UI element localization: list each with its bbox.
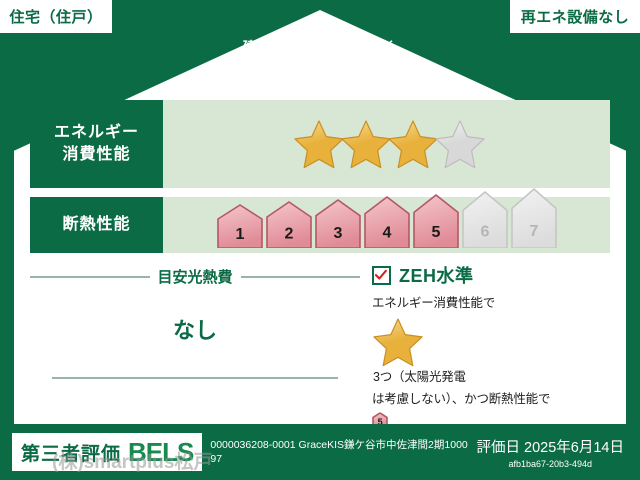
insulation-performance-row: 断熱性能 1234567 <box>30 197 610 253</box>
evaluation-date-block: 評価日 2025年6月14日 afb1ba67-20b3-494d <box>477 436 628 469</box>
cost-value: なし <box>30 313 360 345</box>
svg-text:1: 1 <box>235 226 244 243</box>
bels-logo: BELS <box>128 437 193 468</box>
star-1-gold-icon <box>293 118 345 170</box>
insulation-grade-scale: 1234567 <box>163 197 610 253</box>
zeh-checkbox-checked-icon <box>372 266 391 285</box>
zeh-desc-part2: は考慮しない）、かつ断熱性能で <box>372 392 550 406</box>
insulation-grade-5: 5 <box>413 202 459 248</box>
insulation-grade-3: 3 <box>315 202 361 248</box>
footer-bar: 第三者評価 BELS 0000036208-0001 GraceKIS鎌ケ谷市中… <box>0 424 640 480</box>
insulation-performance-label: 断熱性能 <box>30 197 163 253</box>
star-3-gold-icon <box>387 118 439 170</box>
bels-badge: 第三者評価 BELS <box>12 433 202 471</box>
insulation-label-text: 断熱性能 <box>62 214 130 236</box>
third-party-evaluation-label: 第三者評価 <box>21 439 121 466</box>
svg-text:5: 5 <box>431 224 440 241</box>
svg-text:4: 4 <box>382 225 391 242</box>
cost-divider <box>52 377 338 379</box>
document-hash: afb1ba67-20b3-494d <box>477 459 624 469</box>
star-2-gold-icon <box>340 118 392 170</box>
evaluation-date-value: 2025年6月14日 <box>524 440 624 456</box>
label-content: エネルギー 消費性能 断熱性能 1234567 目安光熱費 なし <box>30 100 610 420</box>
insulation-grade-4: 4 <box>364 202 410 248</box>
zeh-desc-star-count: 3つ（太陽光発電 <box>373 370 466 384</box>
cost-heading-text: 目安光熱費 <box>158 266 233 287</box>
insulation-grade-6: 6 <box>462 202 508 248</box>
dwelling-type-tag: 住宅（住戸） <box>0 0 112 33</box>
cost-rule-right <box>241 276 361 278</box>
title-subtitle: 建築物省エネ法に基づく <box>0 36 640 55</box>
insulation-grade-2: 2 <box>266 202 312 248</box>
page-title: 省エネ性能ラベル <box>0 57 640 94</box>
zeh-desc-part1: エネルギー消費性能で <box>372 296 495 310</box>
svg-text:3: 3 <box>333 225 342 242</box>
svg-text:2: 2 <box>284 226 293 243</box>
renewable-equipment-tag: 再エネ設備なし <box>510 0 640 33</box>
svg-text:6: 6 <box>480 224 489 241</box>
insulation-grade-7: 7 <box>511 202 557 248</box>
label-title-block: 建築物省エネ法に基づく 省エネ性能ラベル <box>0 36 640 94</box>
energy-performance-label: エネルギー 消費性能 <box>30 100 163 188</box>
cost-heading: 目安光熱費 <box>30 266 360 287</box>
energy-label-root: 住宅（住戸） 再エネ設備なし 建築物省エネ法に基づく 省エネ性能ラベル エネルギ… <box>0 0 640 480</box>
zeh-title: ZEH水準 <box>399 262 474 288</box>
star-rating <box>163 100 610 188</box>
zeh-standard-row: ZEH水準 <box>372 262 610 288</box>
energy-label-line1: エネルギー <box>54 122 139 144</box>
svg-text:7: 7 <box>529 223 538 240</box>
energy-label-line2: 消費性能 <box>62 144 130 166</box>
insulation-grade-1: 1 <box>217 202 263 248</box>
energy-performance-row: エネルギー 消費性能 <box>30 100 610 188</box>
evaluation-date-label: 評価日 <box>477 440 521 456</box>
registration-number: 0000036208-0001 GraceKIS鎌ケ谷市中佐津間2期100097 <box>202 438 476 466</box>
evaluation-date: 評価日 2025年6月14日 <box>477 436 624 457</box>
star-4-gray-icon <box>434 118 486 170</box>
inline-star-icon <box>372 316 610 368</box>
cost-rule-left <box>30 276 150 278</box>
